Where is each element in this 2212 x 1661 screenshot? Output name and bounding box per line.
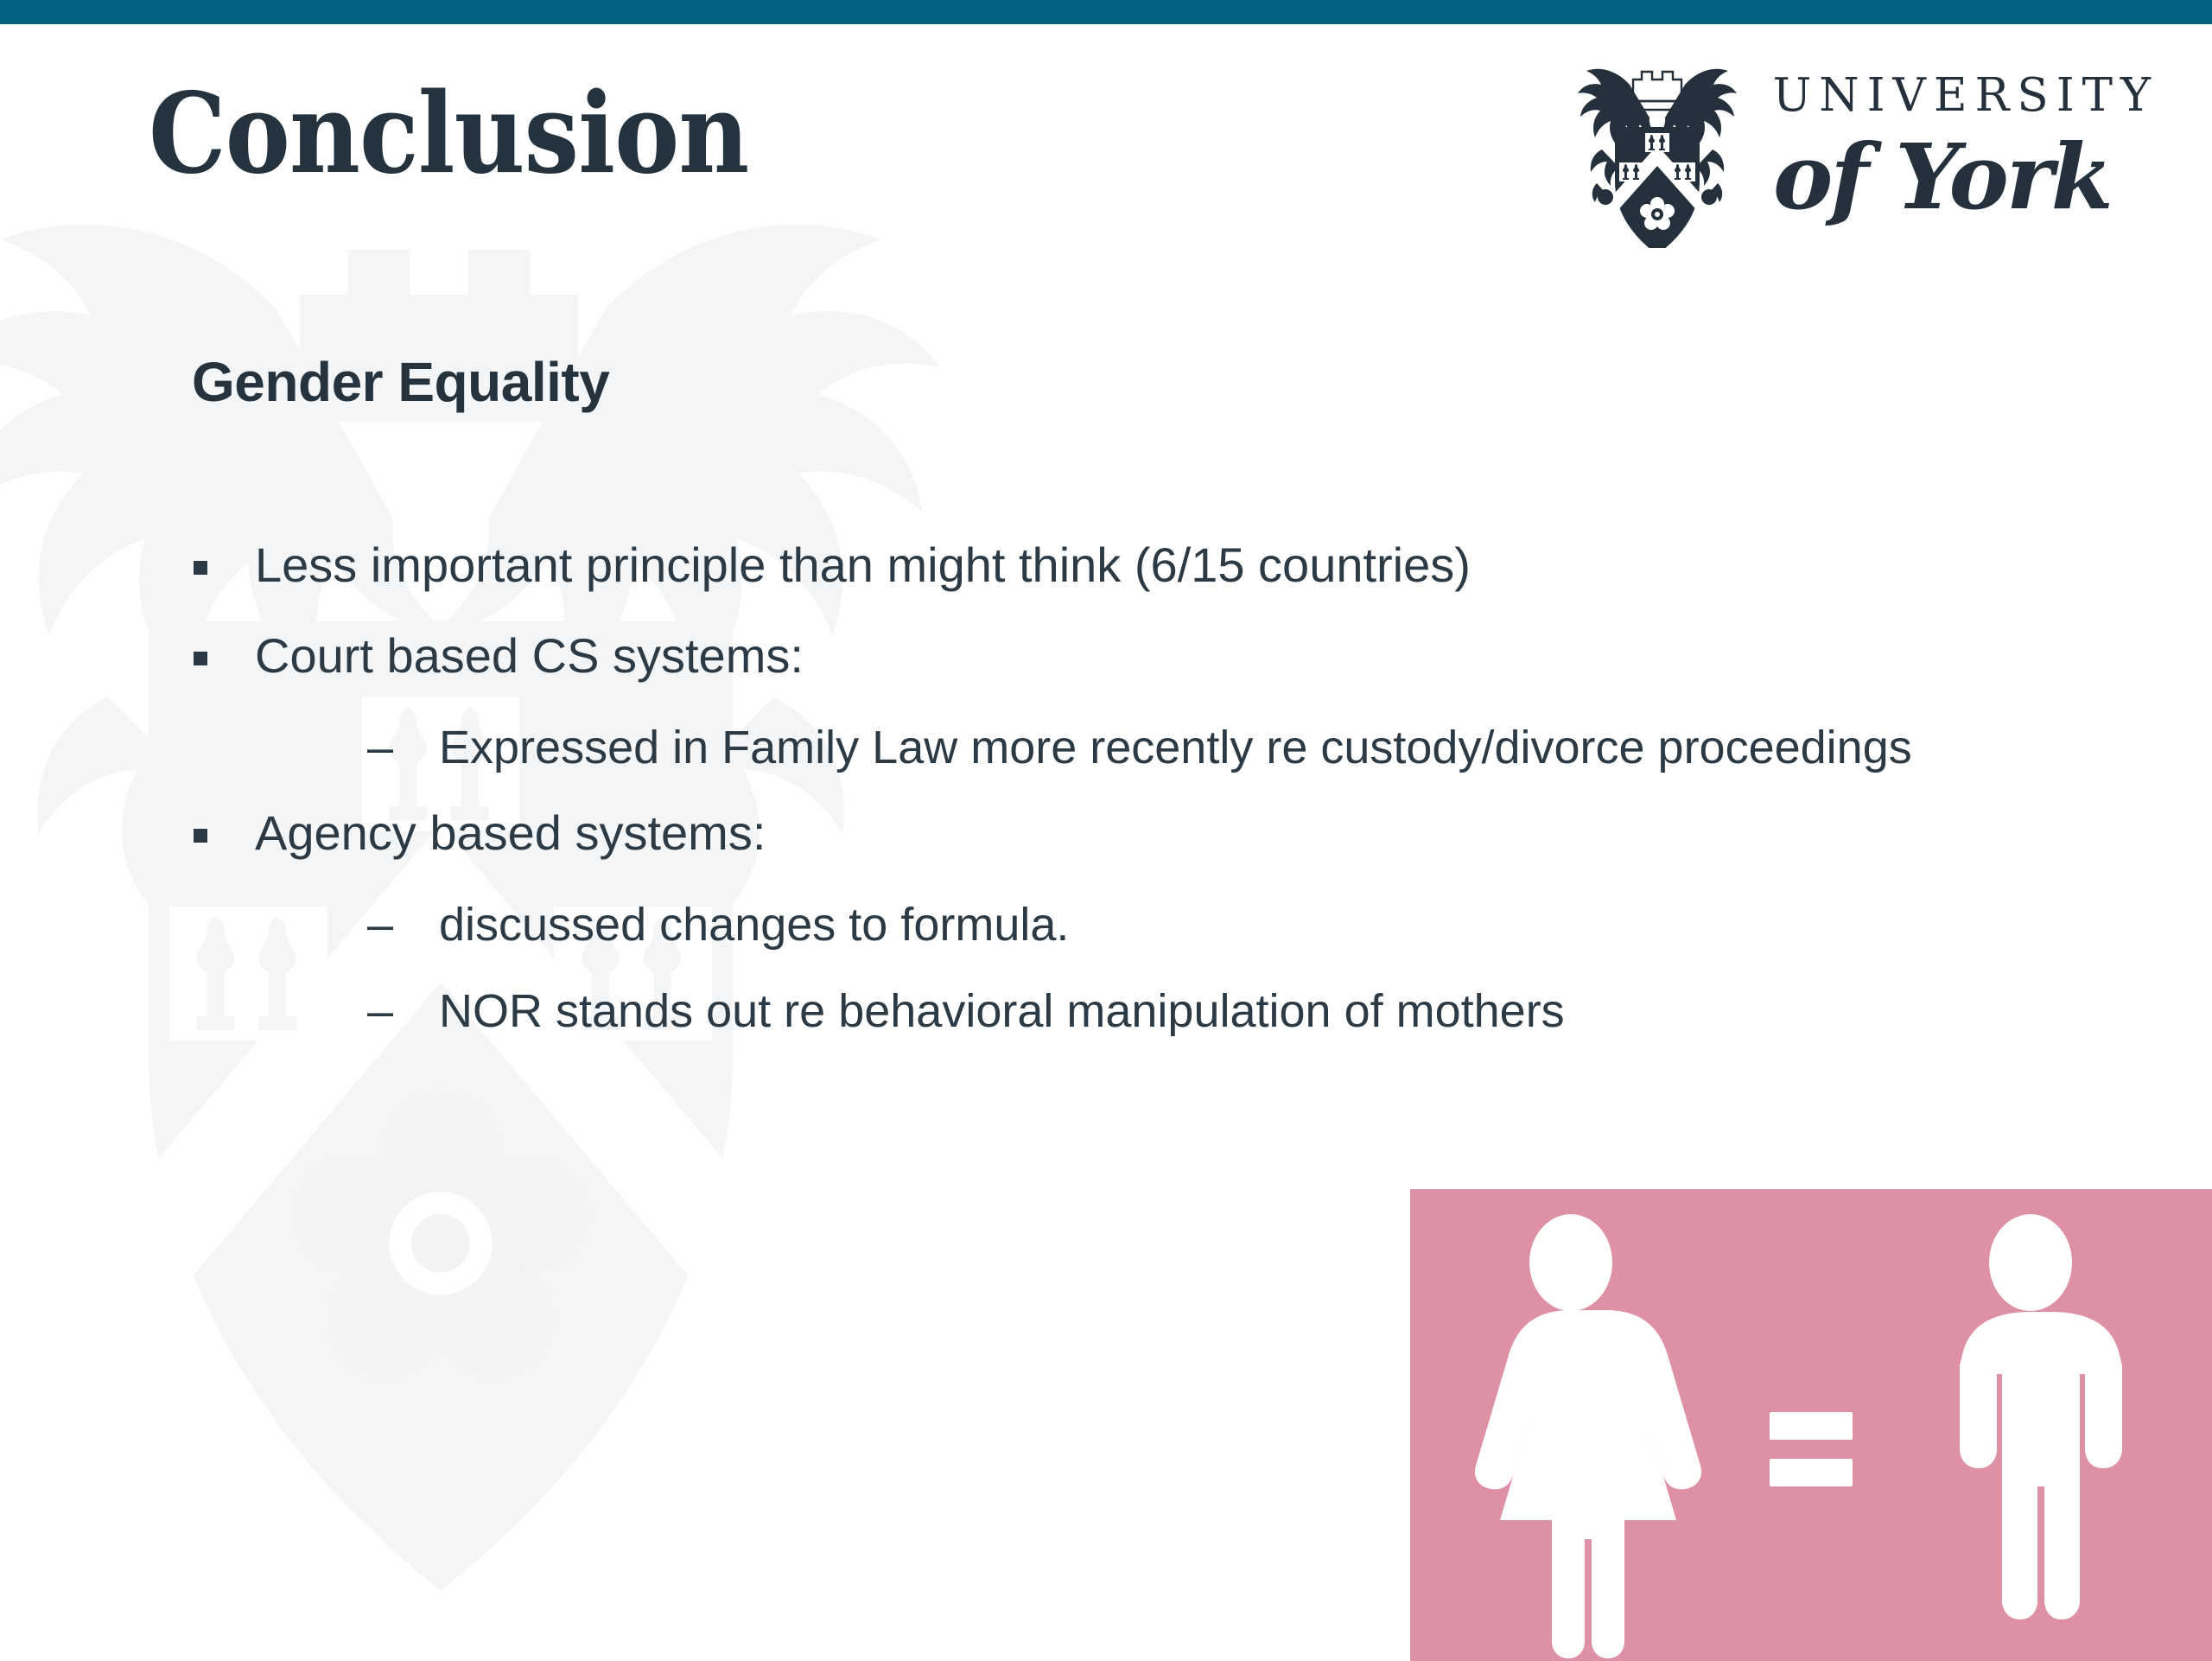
page-title: Conclusion: [149, 76, 748, 192]
female-figure-icon: [1475, 1214, 1701, 1658]
list-item: – NOR stands out re behavioral manipulat…: [181, 985, 2039, 1037]
male-figure-icon: [1960, 1214, 2122, 1620]
logo-university-text: UNIVERSITY: [1773, 73, 2158, 118]
list-item-text: Agency based systems:: [255, 808, 766, 859]
equals-sign-icon: [1770, 1412, 1853, 1486]
list-item: Court based CS systems:: [181, 631, 2039, 682]
logo-of-york-text: of York: [1773, 125, 2110, 239]
list-item: – Expressed in Family Law more recently …: [181, 722, 2039, 773]
dash-bullet-icon: –: [367, 985, 439, 1037]
dash-bullet-icon: –: [367, 899, 439, 951]
list-item-text: discussed changes to formula.: [439, 899, 1069, 951]
svg-text:of York: of York: [1773, 125, 2110, 230]
bullet-list: Less important principle than might thin…: [181, 540, 2039, 1072]
slide-canvas: Conclusion: [0, 0, 2212, 1661]
university-logo: UNIVERSITY of York: [1571, 54, 2158, 248]
list-item-text: Expressed in Family Law more recently re…: [439, 722, 1912, 773]
logo-wordmark: UNIVERSITY of York: [1773, 62, 2158, 239]
section-subheading: Gender Equality: [192, 354, 609, 410]
list-item: – discussed changes to formula.: [181, 899, 2039, 951]
dash-bullet-icon: –: [367, 722, 439, 773]
list-item-text: Court based CS systems:: [255, 631, 804, 682]
list-item-text: Less important principle than might thin…: [255, 540, 1471, 591]
gender-equality-image: [1410, 1189, 2212, 1661]
list-item: Less important principle than might thin…: [181, 540, 2039, 591]
list-item-text: NOR stands out re behavioral manipulatio…: [439, 985, 1565, 1037]
list-item: Agency based systems:: [181, 808, 2039, 859]
york-coat-of-arms-icon: [1571, 54, 1744, 248]
